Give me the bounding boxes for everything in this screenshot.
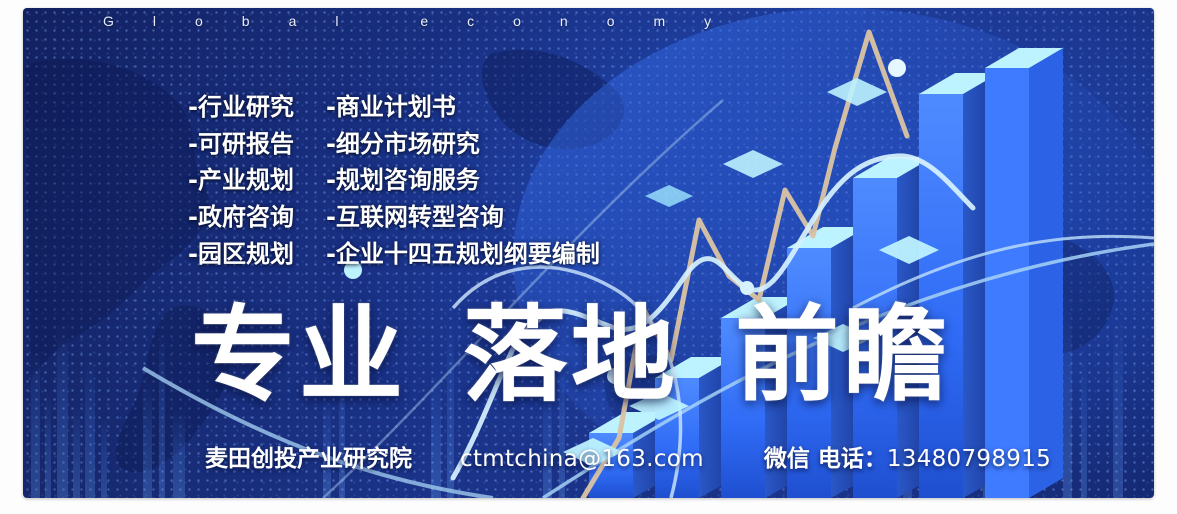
dot-marker (888, 59, 906, 77)
email-address[interactable]: ctmtchina@163.com (460, 448, 704, 471)
headline-word-2: 落地 (463, 303, 679, 407)
service-item: -产业规划 (188, 165, 294, 197)
service-item: -规划咨询服务 (326, 165, 600, 197)
service-list: -行业研究 -可研报告 -产业规划 -政府咨询 -园区规划 -商业计划书 -细分… (188, 92, 600, 270)
chart-bar (985, 48, 1063, 498)
headline: 专业 落地 前瞻 (191, 303, 951, 407)
service-item: -行业研究 (188, 92, 294, 124)
service-column-right: -商业计划书 -细分市场研究 -规划咨询服务 -互联网转型咨询 -企业十四五规划… (326, 92, 600, 270)
service-item: -政府咨询 (188, 202, 294, 234)
phone-label: 微信 电话： (764, 448, 887, 471)
headline-word-1: 专业 (191, 303, 407, 407)
contact-line: 麦田创投产业研究院 ctmtchina@163.com 微信 电话： 13480… (205, 448, 1051, 471)
service-item: -企业十四五规划纲要编制 (326, 239, 600, 271)
service-item: -可研报告 (188, 129, 294, 161)
service-item: -细分市场研究 (326, 129, 600, 161)
service-column-left: -行业研究 -可研报告 -产业规划 -政府咨询 -园区规划 (188, 92, 294, 270)
banner-frame: Global economy -行业研究 -可研报告 -产业规划 -政府咨询 -… (0, 0, 1177, 514)
promo-banner: Global economy -行业研究 -可研报告 -产业规划 -政府咨询 -… (23, 8, 1154, 498)
headline-word-3: 前瞻 (735, 303, 951, 407)
service-item: -园区规划 (188, 239, 294, 271)
service-item: -商业计划书 (326, 92, 600, 124)
company-name: 麦田创投产业研究院 (205, 448, 412, 471)
service-item: -互联网转型咨询 (326, 202, 600, 234)
dot-marker (740, 281, 754, 295)
phone-number[interactable]: 13480798915 (887, 448, 1051, 471)
